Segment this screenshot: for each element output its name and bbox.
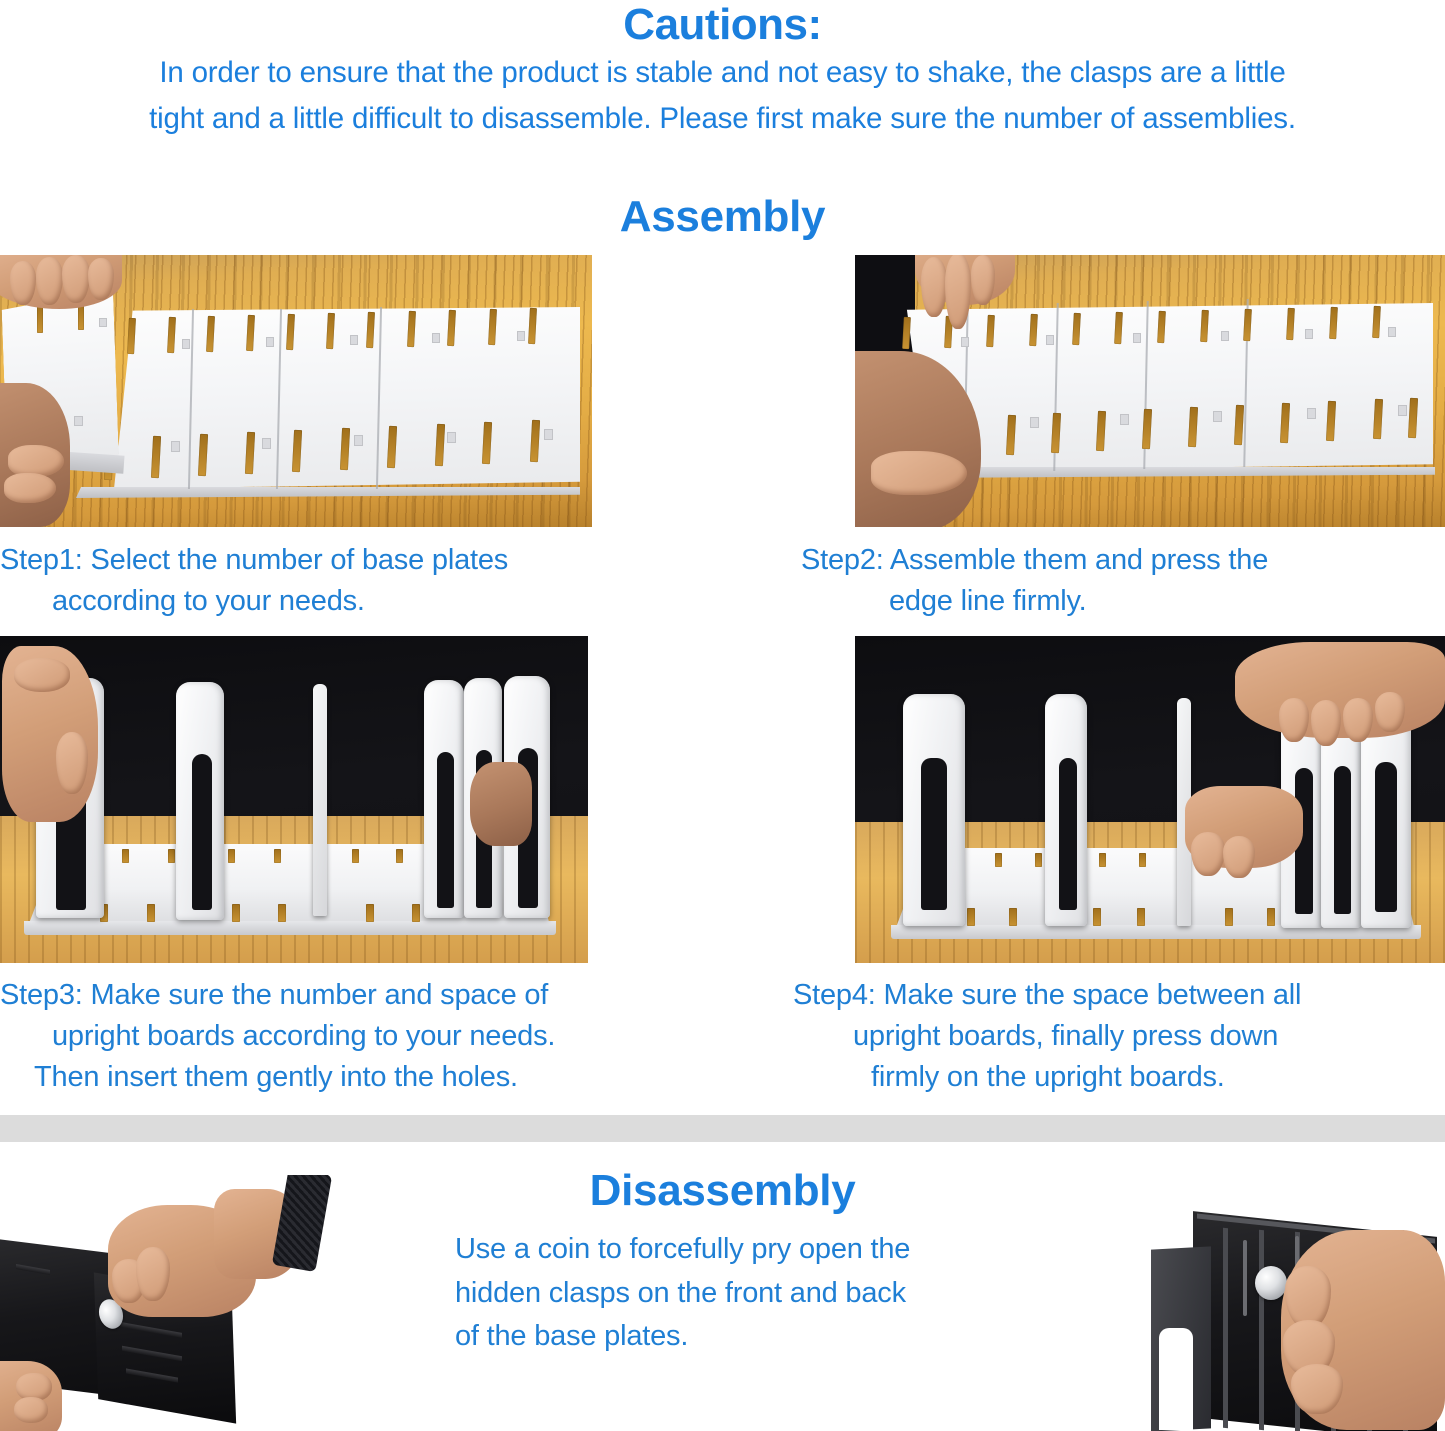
tray-slot: [168, 849, 175, 863]
plate-clasp: [1030, 417, 1039, 428]
step3-line-1: Step3: Make sure the number and space of: [0, 975, 745, 1016]
step3-line-3: Then insert them gently into the holes.: [0, 1057, 745, 1098]
finger: [36, 257, 63, 305]
tray-slot: [1009, 908, 1017, 926]
step2-line-2: edge line firmly.: [723, 581, 1445, 622]
step2-photo: [855, 255, 1445, 527]
tray-slot: [1035, 853, 1042, 867]
plate-clasp: [354, 435, 363, 446]
tray-slot: [232, 904, 240, 922]
plate-clasp: [171, 441, 180, 452]
base-tray-lip: [24, 921, 556, 935]
plate-clasp: [447, 432, 456, 443]
tray-slot: [147, 904, 155, 922]
step1-photo: [0, 255, 592, 527]
coin: [1255, 1266, 1287, 1300]
side-panel-hole: [1159, 1328, 1193, 1430]
section-divider: [0, 1115, 1445, 1142]
step3-line-2: upright boards according to your needs.: [0, 1016, 745, 1057]
thumb: [1285, 1266, 1331, 1328]
plate-clasp: [1398, 405, 1407, 416]
plate-clasp: [262, 438, 271, 449]
tray-slot: [1139, 853, 1146, 867]
step4-line-3: firmly on the upright boards.: [745, 1057, 1445, 1098]
cautions-line-1: In order to ensure that the product is s…: [20, 50, 1425, 96]
upright-board-handle-hole: [437, 752, 454, 908]
finger: [1223, 836, 1255, 878]
step4-caption: Step4: Make sure the space between all u…: [745, 975, 1445, 1099]
plate-clasp: [182, 339, 190, 349]
finger: [1311, 700, 1341, 746]
cautions-title: Cautions:: [0, 2, 1445, 48]
upright-board-handle-hole: [192, 754, 212, 910]
disassembly-body: Use a coin to forcefully pry open the hi…: [455, 1228, 1055, 1359]
finger: [871, 451, 967, 495]
plate-clasp: [1046, 335, 1054, 345]
step1-line-1: Step1: Select the number of base plates: [0, 540, 722, 581]
finger: [971, 255, 995, 305]
tray-slot: [1099, 853, 1106, 867]
tray-slot: [352, 849, 359, 863]
hand-right: [470, 762, 532, 846]
step4-line-2: upright boards, finally press down: [745, 1016, 1445, 1057]
disassembly-line-1: Use a coin to forcefully pry open the: [455, 1228, 1055, 1272]
plate-clasp: [544, 429, 553, 440]
step3-caption: Step3: Make sure the number and space of…: [0, 975, 745, 1099]
tray-slot: [1267, 908, 1275, 926]
plate-clasp: [266, 337, 274, 347]
plate-clasp: [961, 337, 969, 347]
step3-photo: [0, 636, 588, 963]
finger: [14, 1397, 48, 1423]
tray-slot: [1137, 908, 1145, 926]
finger: [1343, 698, 1373, 742]
finger: [921, 257, 947, 317]
plate-clasp: [1307, 408, 1316, 419]
plate-rib: [1223, 1228, 1228, 1428]
plate-clasp: [1388, 327, 1396, 337]
finger-index: [136, 1247, 170, 1301]
assembly-section-title: Assembly: [0, 192, 1445, 242]
finger: [1375, 692, 1405, 732]
cautions-line-2: tight and a little difficult to disassem…: [20, 96, 1425, 142]
tray-slot: [228, 849, 235, 863]
step1-line-2: according to your needs.: [0, 581, 722, 622]
plate-clasp: [517, 331, 525, 341]
tray-slot: [122, 849, 129, 863]
plate-slot: [37, 305, 43, 333]
tray-slot: [396, 849, 403, 863]
tray-slot: [278, 904, 286, 922]
plate-clasp: [1120, 414, 1129, 425]
tray-slot: [995, 853, 1002, 867]
upright-board-handle-hole: [1059, 758, 1077, 910]
finger: [1191, 832, 1225, 876]
disassembly-photo-left: [0, 1175, 400, 1431]
tray-slot: [412, 904, 420, 922]
finger: [88, 258, 114, 300]
plate-clasp: [350, 335, 358, 345]
tray-slot: [366, 904, 374, 922]
disassembly-photo-right: [1135, 1200, 1445, 1431]
plate-clasp: [74, 416, 83, 426]
plate-clasp: [1221, 331, 1229, 341]
upright-board-handle-hole: [921, 758, 947, 910]
finger: [8, 445, 64, 477]
finger: [62, 255, 90, 303]
finger: [4, 473, 56, 503]
step2-line-1: Step2: Assemble them and press the: [723, 540, 1445, 581]
step4-line-1: Step4: Make sure the space between all: [745, 975, 1445, 1016]
thumb: [56, 732, 88, 794]
plate-clasp: [1305, 329, 1313, 339]
infographic-page: Cautions: In order to ensure that the pr…: [0, 0, 1445, 1431]
finger: [1291, 1364, 1343, 1414]
disassembly-line-3: of the base plates.: [455, 1315, 1055, 1359]
tray-slot: [967, 908, 975, 926]
plate-rib: [1259, 1230, 1264, 1430]
step4-photo: [855, 636, 1445, 963]
finger: [10, 261, 36, 305]
tray-slot: [1093, 908, 1101, 926]
finger: [1279, 698, 1309, 742]
step1-caption: Step1: Select the number of base plates …: [0, 540, 722, 622]
disassembly-line-2: hidden clasps on the front and back: [455, 1272, 1055, 1316]
tray-slot: [274, 849, 281, 863]
cautions-body: In order to ensure that the product is s…: [20, 50, 1425, 141]
step2-caption: Step2: Assemble them and press the edge …: [723, 540, 1445, 622]
plate-clasp: [99, 318, 107, 327]
upright-board-handle-hole: [1375, 762, 1397, 912]
hidden-clasp: [1243, 1240, 1247, 1316]
plate-clasp: [1133, 333, 1141, 343]
finger: [14, 658, 70, 692]
plate-clasp: [1213, 411, 1222, 422]
plate-clasp: [432, 333, 440, 343]
upright-board-handle-hole: [1334, 766, 1351, 914]
upright-board: [313, 684, 327, 916]
tray-slot: [1225, 908, 1233, 926]
